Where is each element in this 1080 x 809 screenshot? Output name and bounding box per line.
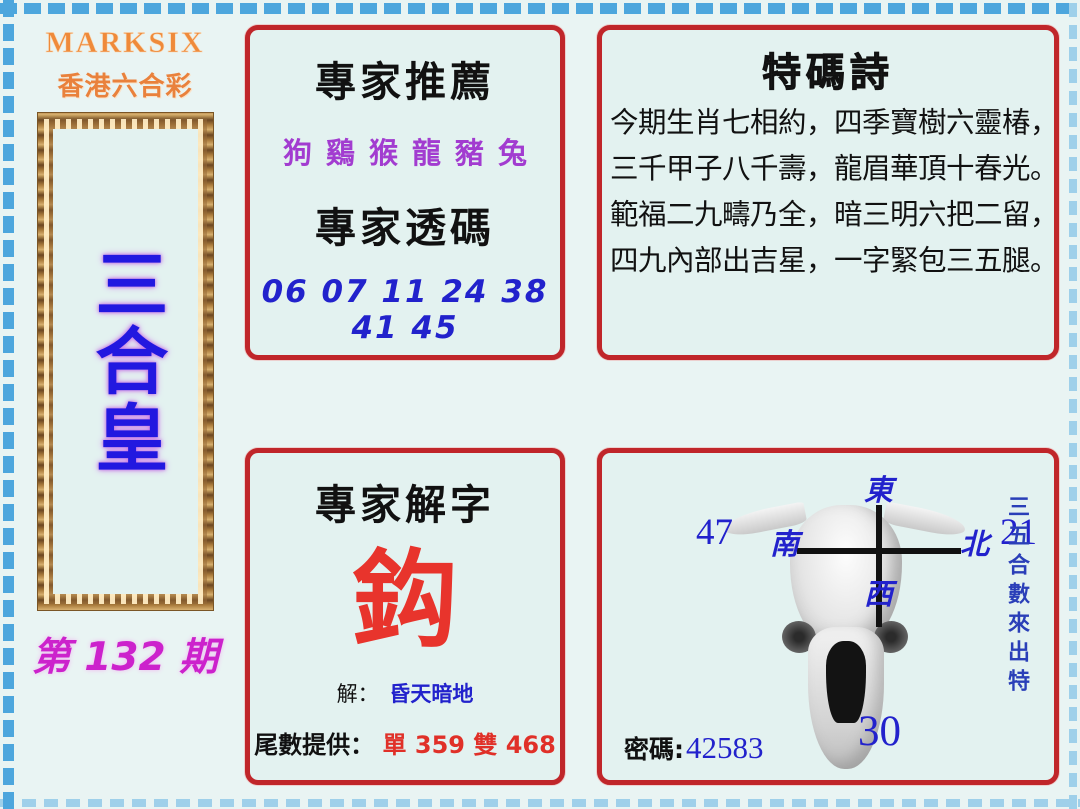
issue-number-label: 第 132 期 [14,626,236,682]
skull-number-bottom: 30 [858,707,901,756]
zodiac-item: 鷄 [326,130,355,172]
character-meaning-value: 昏天暗地 [385,682,473,706]
lottery-numbers: 06 07 11 24 38 41 45 [250,274,560,346]
skull-number-left: 47 [696,511,733,554]
zodiac-item: 豬 [455,130,484,172]
character-panel-title: 專家解字 [250,471,560,531]
tail-numbers-value: 單 359 雙 468 [383,731,556,759]
character-analysis-panel: 專家解字 鈎 解： 昏天暗地 尾數提供： 單 359 雙 468 [245,448,565,785]
tail-numbers-row: 尾數提供： 單 359 雙 468 [250,725,560,760]
direction-north-label: 北 [960,521,989,563]
skull-side-phrase: 三五合數來出特 [1000,495,1032,698]
secret-code-row: 密碼:42583 [624,730,764,766]
expert-recommendation-panel: 專家推薦 狗 鷄 猴 龍 豬 兔 專家透碼 06 07 11 24 38 41 … [245,25,565,360]
secret-code-label: 密碼: [624,735,684,764]
compass-horizontal-bar [797,548,961,554]
zodiac-item: 龍 [412,130,441,172]
direction-west-label: 西 [864,571,893,613]
zodiac-item: 狗 [283,130,312,172]
poem-panel: 特碼詩 今期生肖七相約，四季寶樹六靈椿， 三千甲子八千壽，龍眉華頂十春光。 範福… [597,25,1059,360]
poem-body: 今期生肖七相約，四季寶樹六靈椿， 三千甲子八千壽，龍眉華頂十春光。 範福二九疇乃… [602,100,1054,285]
skull-stage: 東 西 南 北 47 21 30 三五合數來出特 密碼:42583 [602,453,1054,780]
frame-top-border [0,3,1080,14]
expert-reveal-title: 專家透碼 [250,194,560,254]
frame-left-border [3,0,14,809]
poem-line: 範福二九疇乃全，暗三明六把二留， [610,192,1046,238]
zodiac-item: 猴 [369,130,398,172]
page-root: MARKSIX 香港六合彩 三合皇 第 132 期 專家推薦 狗 鷄 猴 龍 豬… [0,0,1080,809]
cow-skull-image [730,469,960,769]
scroll-vertical-title: 三合皇 [84,246,166,477]
scroll-inner-panel: 三合皇 [53,129,198,594]
skull-compass-panel: 東 西 南 北 47 21 30 三五合數來出特 密碼:42583 [597,448,1059,785]
frame-bottom-border [0,799,1080,807]
direction-east-label: 東 [864,467,893,509]
brand-english-title: MARKSIX [14,26,236,60]
expert-panel-title: 專家推薦 [250,48,560,108]
poem-line: 今期生肖七相約，四季寶樹六靈椿， [610,100,1046,146]
direction-south-label: 南 [770,521,799,563]
frame-right-border [1069,0,1077,809]
zodiac-item: 兔 [498,130,527,172]
featured-character: 鈎 [250,545,560,656]
character-meaning-label: 解： [337,682,379,706]
brand-chinese-title: 香港六合彩 [14,66,236,103]
poem-panel-title: 特碼詩 [602,42,1054,98]
poem-line: 四九內部出吉星，一字緊包三五腿。 [610,238,1046,284]
zodiac-list: 狗 鷄 猴 龍 豬 兔 [250,130,560,172]
poem-line: 三千甲子八千壽，龍眉華頂十春光。 [610,146,1046,192]
secret-code-value: 42583 [684,730,764,765]
tail-numbers-label: 尾數提供： [254,731,374,759]
scroll-frame: 三合皇 [38,113,213,610]
character-meaning-row: 解： 昏天暗地 [250,678,560,708]
brand-column: MARKSIX 香港六合彩 三合皇 第 132 期 [14,14,236,794]
